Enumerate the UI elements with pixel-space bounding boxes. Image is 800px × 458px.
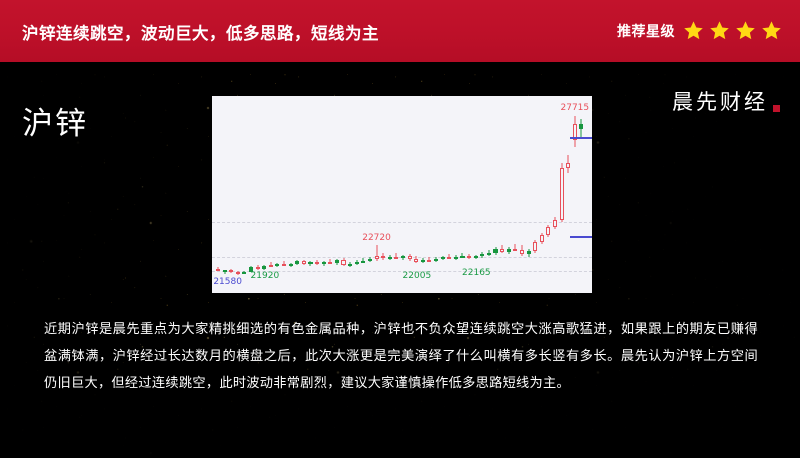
star-icon xyxy=(735,20,756,41)
candle xyxy=(414,96,418,293)
candle xyxy=(527,96,531,293)
price-annotation: 21920 xyxy=(251,271,280,281)
star-icon xyxy=(709,20,730,41)
candle xyxy=(302,96,306,293)
candle xyxy=(328,96,332,293)
candle xyxy=(500,96,504,293)
candle-body xyxy=(447,257,451,259)
candle xyxy=(223,96,227,293)
candle-body xyxy=(401,256,405,258)
candle-body xyxy=(579,124,583,129)
candle-body xyxy=(308,262,312,264)
star-rating xyxy=(683,20,782,41)
candle xyxy=(573,96,577,293)
price-annotation: 21580 xyxy=(213,277,242,287)
candle-body xyxy=(355,262,359,264)
candle-body xyxy=(553,220,557,228)
candle-body xyxy=(434,259,438,261)
candle-body xyxy=(388,257,392,259)
candle xyxy=(295,96,299,293)
candle-body xyxy=(421,260,425,262)
candle-body xyxy=(242,272,246,274)
candle xyxy=(348,96,352,293)
candle xyxy=(434,96,438,293)
candle-body xyxy=(527,251,531,254)
candle xyxy=(335,96,339,293)
candle-body xyxy=(467,256,471,258)
candle xyxy=(275,96,279,293)
candle-body xyxy=(513,249,517,251)
candle xyxy=(375,96,379,293)
candle xyxy=(308,96,312,293)
candle xyxy=(408,96,412,293)
candle-body xyxy=(546,227,550,235)
candle-body xyxy=(381,256,385,259)
candle xyxy=(322,96,326,293)
candle xyxy=(394,96,398,293)
candle xyxy=(460,96,464,293)
candle xyxy=(447,96,451,293)
candle-body xyxy=(256,267,260,269)
candle-body xyxy=(295,261,299,264)
candle xyxy=(454,96,458,293)
price-annotation: 27715 xyxy=(560,103,589,113)
candle xyxy=(229,96,233,293)
price-annotation: 22005 xyxy=(403,271,432,281)
candle-body xyxy=(216,269,220,271)
price-level-marker xyxy=(570,137,592,139)
poster-root: 沪锌连续跳空，波动巨大，低多思路，短线为主 推荐星级 沪锌 晨先财经 27715… xyxy=(0,0,800,458)
candle-body xyxy=(348,264,352,266)
candle xyxy=(242,96,246,293)
chart-candles xyxy=(212,96,592,293)
candle-body xyxy=(361,261,365,263)
candle-body xyxy=(229,270,233,272)
candle-body xyxy=(375,256,379,260)
candle-body xyxy=(441,257,445,259)
candle xyxy=(560,96,564,293)
candle xyxy=(474,96,478,293)
candle xyxy=(467,96,471,293)
candle xyxy=(520,96,524,293)
candle-body xyxy=(275,264,279,266)
candle-body xyxy=(427,260,431,262)
candle-body xyxy=(493,249,497,253)
candle-body xyxy=(394,257,398,259)
candle-body xyxy=(480,254,484,256)
candle xyxy=(540,96,544,293)
candle-body xyxy=(474,256,478,258)
candle xyxy=(546,96,550,293)
candle xyxy=(513,96,517,293)
candle xyxy=(289,96,293,293)
candle xyxy=(269,96,273,293)
candle xyxy=(441,96,445,293)
candle-body xyxy=(368,259,372,261)
rating-label: 推荐星级 xyxy=(617,21,675,41)
article-paragraph: 近期沪锌是晨先重点为大家精挑细选的有色金属品种，沪锌也不负众望连续跳空大涨高歌猛… xyxy=(44,316,758,397)
candle-body xyxy=(315,262,319,264)
brand-logo: 晨先财经 xyxy=(672,86,780,116)
price-annotation: 22720 xyxy=(362,233,391,243)
symbol-title: 沪锌 xyxy=(22,98,88,143)
candle xyxy=(427,96,431,293)
candle-body xyxy=(487,253,491,255)
candle xyxy=(355,96,359,293)
candle xyxy=(249,96,253,293)
star-icon xyxy=(761,20,782,41)
candle-body xyxy=(408,256,412,259)
candle xyxy=(236,96,240,293)
rating-group: 推荐星级 xyxy=(617,20,782,41)
candle-body xyxy=(302,261,306,263)
candle xyxy=(421,96,425,293)
candle-body xyxy=(341,260,345,265)
candle-body xyxy=(282,264,286,266)
price-annotation: 22165 xyxy=(462,268,491,278)
candle xyxy=(361,96,365,293)
candle xyxy=(216,96,220,293)
candle xyxy=(579,96,583,293)
candle-body xyxy=(262,266,266,269)
candle xyxy=(533,96,537,293)
candle-body xyxy=(500,249,504,252)
candlestick-chart[interactable]: 277152272021920220052216521580 xyxy=(212,96,592,293)
candle-body xyxy=(454,257,458,259)
candle xyxy=(493,96,497,293)
candle-body xyxy=(540,235,544,242)
candle xyxy=(401,96,405,293)
price-level-marker xyxy=(570,236,592,238)
candle-body xyxy=(414,259,418,262)
candle-body xyxy=(520,250,524,254)
candle-body xyxy=(566,163,570,168)
candle xyxy=(480,96,484,293)
star-icon xyxy=(683,20,704,41)
candle xyxy=(507,96,511,293)
candle xyxy=(388,96,392,293)
candle-body xyxy=(335,260,339,263)
header-bar: 沪锌连续跳空，波动巨大，低多思路，短线为主 推荐星级 xyxy=(0,0,800,62)
candle-body xyxy=(560,168,564,220)
candle xyxy=(256,96,260,293)
candle xyxy=(341,96,345,293)
brand-dot-icon xyxy=(773,105,780,112)
candle xyxy=(262,96,266,293)
candle-body xyxy=(460,256,464,258)
brand-name: 晨先财经 xyxy=(672,86,768,116)
candle-body xyxy=(507,249,511,252)
candle xyxy=(553,96,557,293)
candle xyxy=(487,96,491,293)
candle xyxy=(368,96,372,293)
candle-body xyxy=(236,272,240,274)
page-title: 沪锌连续跳空，波动巨大，低多思路，短线为主 xyxy=(22,20,379,44)
candle-body xyxy=(269,265,273,267)
candle xyxy=(282,96,286,293)
candle-body xyxy=(533,242,537,251)
candle-body xyxy=(223,270,227,272)
candle-body xyxy=(328,262,332,264)
candle xyxy=(381,96,385,293)
candle-body xyxy=(289,264,293,266)
candle xyxy=(566,96,570,293)
candle-body xyxy=(322,262,326,264)
candle xyxy=(315,96,319,293)
